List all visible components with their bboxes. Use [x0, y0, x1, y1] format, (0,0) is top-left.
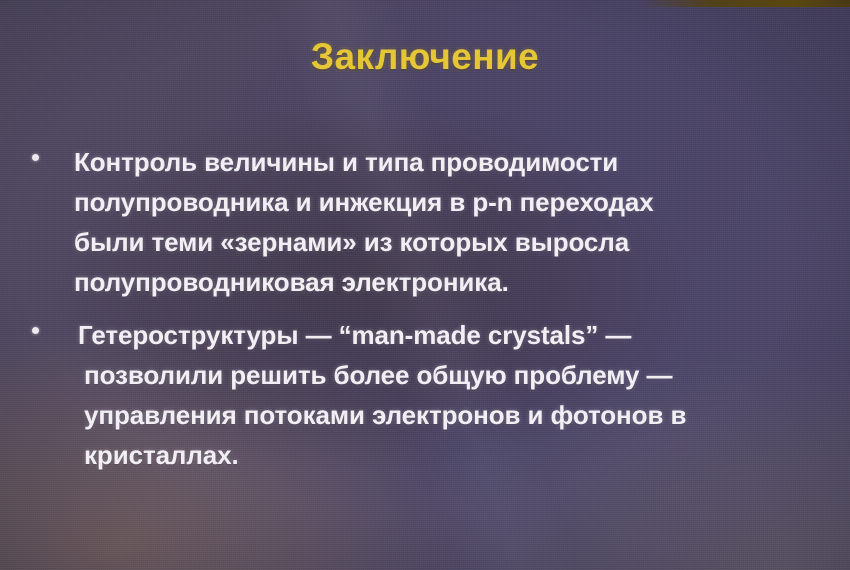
projected-slide-photo: Заключение Контроль величины и типа пров… [0, 0, 850, 570]
bullet-1-line-3: были теми «зернами» из которых выросла [74, 222, 850, 262]
bullet-item-1: Контроль величины и типа проводимости по… [0, 142, 850, 302]
bullet-1-line-4: полупроводниковая электроника. [74, 262, 850, 302]
slide-content: Заключение Контроль величины и типа пров… [0, 0, 850, 570]
slide-body: Контроль величины и типа проводимости по… [0, 142, 850, 475]
slide-title: Заключение [0, 36, 850, 78]
bullet-item-2-text: Гетероструктуры — “man-made crystals” — … [0, 315, 850, 475]
bullet-1-line-1: Контроль величины и типа проводимости [74, 142, 850, 182]
bullet-item-1-text: Контроль величины и типа проводимости по… [0, 142, 850, 302]
bullet-item-2: Гетероструктуры — “man-made crystals” — … [0, 315, 850, 475]
bullet-1-line-2: полупроводника и инжекция в p-n перехода… [74, 182, 850, 222]
bullet-2-line-3: управления потоками электронов и фотонов… [78, 395, 850, 435]
bullet-2-line-4: кристаллах. [78, 435, 850, 475]
bullet-2-line-1: Гетероструктуры — “man-made crystals” — [78, 315, 850, 355]
bullet-2-line-2: позволили решить более общую проблему — [78, 355, 850, 395]
